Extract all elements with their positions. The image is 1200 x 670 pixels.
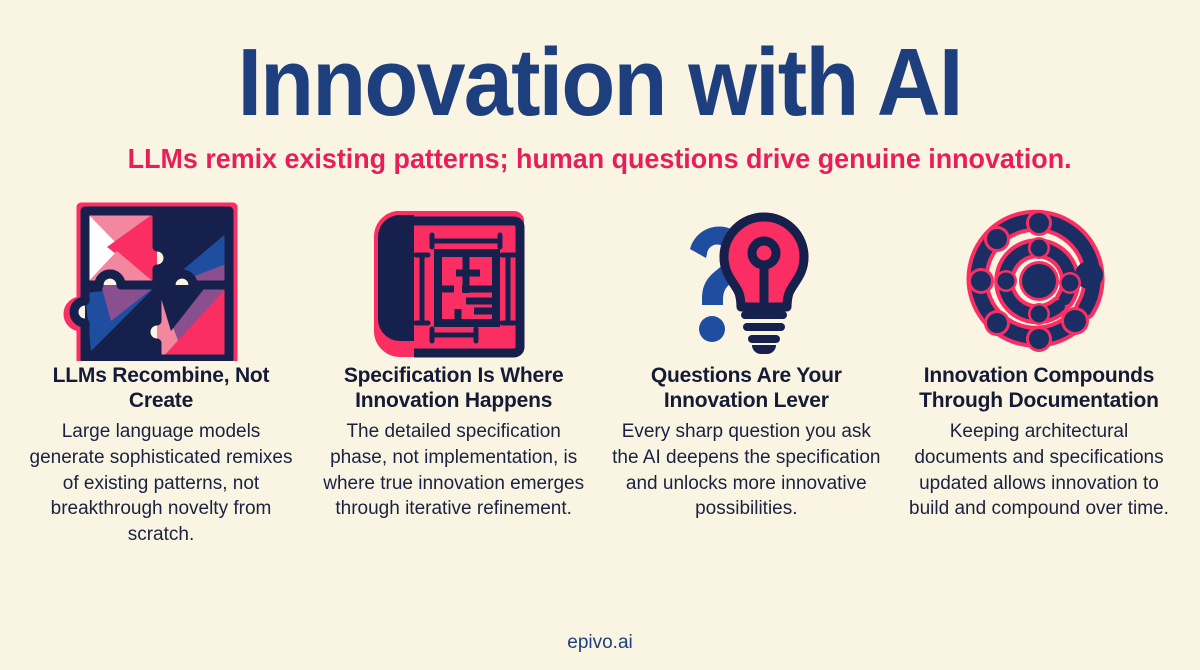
- card-documentation: Innovation Compounds Through Documentati…: [898, 199, 1180, 522]
- question-lightbulb-icon: [646, 199, 846, 364]
- card-body: Keeping architectural documents and spec…: [903, 419, 1175, 522]
- card-title: LLMs Recombine, Not Create: [26, 364, 296, 414]
- card-body: The detailed specification phase, not im…: [318, 419, 590, 522]
- puzzle-piece-bottom-right: [157, 285, 229, 359]
- card-body: Large language models generate sophistic…: [25, 419, 297, 547]
- card-body: Every sharp question you ask the AI deep…: [610, 419, 882, 522]
- blueprint-icon: [354, 199, 554, 364]
- center-node: [1019, 261, 1059, 301]
- page-subtitle: LLMs remix existing patterns; human ques…: [128, 130, 1072, 175]
- card-llms-recombine: LLMs Recombine, Not Create Large languag…: [20, 199, 302, 548]
- page-title: Innovation with AI: [238, 0, 962, 130]
- card-specification: Specification Is Where Innovation Happen…: [313, 199, 595, 522]
- card-questions: Questions Are Your Innovation Lever Ever…: [605, 199, 887, 522]
- puzzle-icon: [61, 199, 261, 364]
- atom-network-icon: [939, 199, 1139, 364]
- infographic-poster: Innovation with AI LLMs remix existing p…: [0, 0, 1200, 670]
- footer-brand: epivo.ai: [0, 632, 1200, 654]
- lightbulb-shape: [724, 217, 804, 354]
- card-title: Specification Is Where Innovation Happen…: [319, 364, 589, 414]
- card-title: Innovation Compounds Through Documentati…: [904, 364, 1174, 414]
- cards-row: LLMs Recombine, Not Create Large languag…: [20, 199, 1180, 548]
- puzzle-piece-top-left: [85, 211, 157, 285]
- card-title: Questions Are Your Innovation Lever: [611, 364, 881, 414]
